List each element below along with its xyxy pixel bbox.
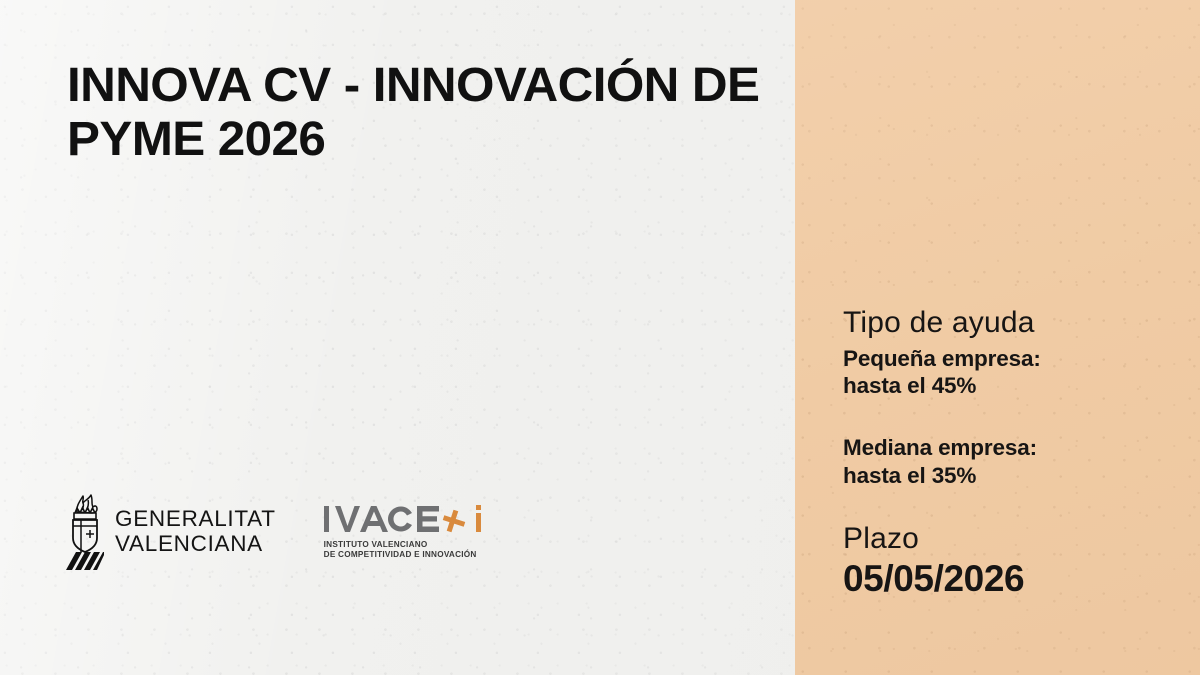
aid-type-heading: Tipo de ayuda xyxy=(843,306,1173,340)
page-title: INNOVA CV - INNOVACIÓN DE PYME 2026 xyxy=(67,59,778,167)
valencia-coat-of-arms-icon xyxy=(64,492,104,570)
generalitat-valenciana-name: GENERALITAT VALENCIANA xyxy=(115,506,276,557)
deadline-block: Plazo 05/05/2026 xyxy=(843,522,1173,599)
ivace-subtitle: INSTITUTO VALENCIANO DE COMPETITIVIDAD E… xyxy=(324,540,520,561)
aid-item-medium-business: Mediana empresa: hasta el 35% xyxy=(843,434,1173,489)
aid-type-block: Tipo de ayuda Pequeña empresa: hasta el … xyxy=(843,306,1173,489)
ivace-wordmark-icon xyxy=(324,502,520,536)
aid-item-small-business: Pequeña empresa: hasta el 45% xyxy=(843,345,1173,400)
generalitat-valenciana-logo: GENERALITAT VALENCIANA xyxy=(64,492,276,570)
ivace-logo: INSTITUTO VALENCIANO DE COMPETITIVIDAD E… xyxy=(324,502,520,561)
poster-canvas: INNOVA CV - INNOVACIÓN DE PYME 2026 xyxy=(0,0,1200,675)
deadline-date: 05/05/2026 xyxy=(843,558,1173,599)
deadline-label: Plazo xyxy=(843,522,1173,556)
logo-row: GENERALITAT VALENCIANA xyxy=(64,492,520,570)
